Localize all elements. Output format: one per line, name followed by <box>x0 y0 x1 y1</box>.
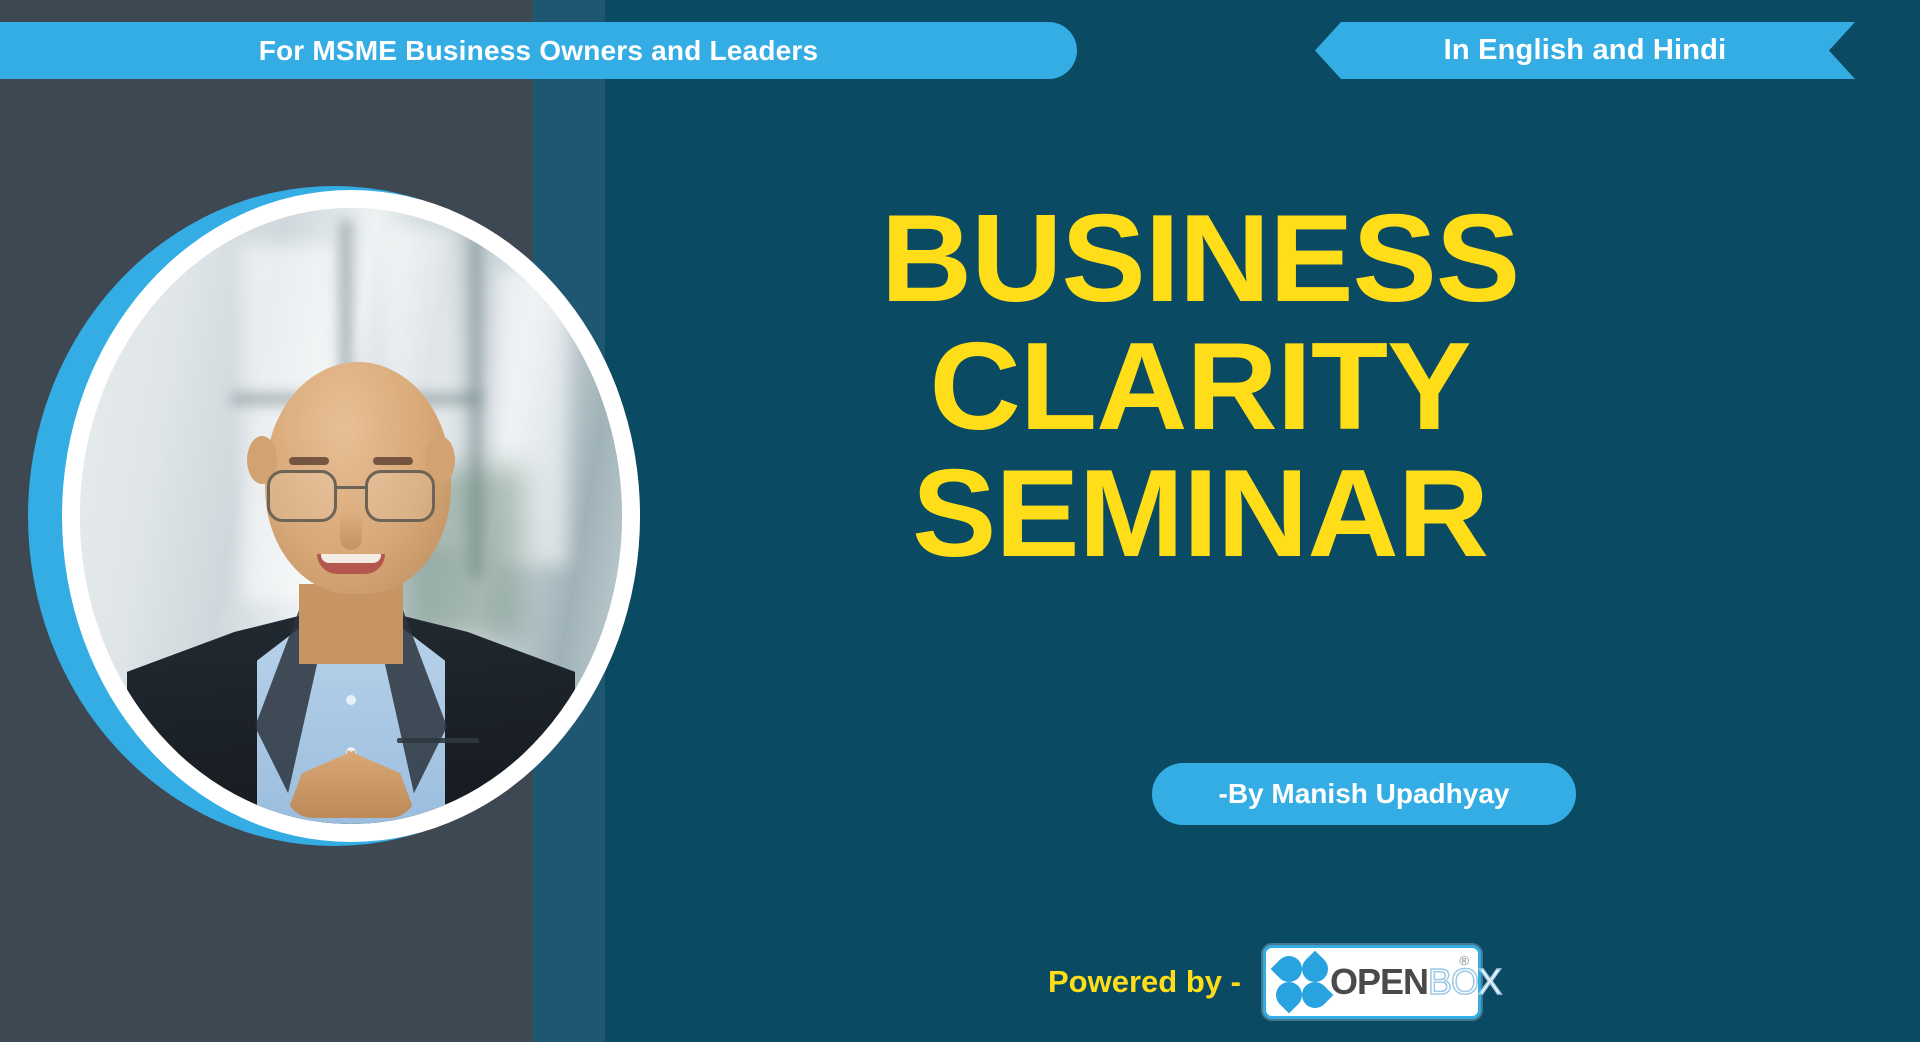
openbox-logo: OPEN BOX ® <box>1263 945 1481 1019</box>
event-title: BUSINESS CLARITY SEMINAR <box>790 196 1610 579</box>
photo-lens-left <box>267 470 337 522</box>
photo-lens-right <box>365 470 435 522</box>
openbox-word-open: OPEN <box>1330 961 1428 1003</box>
photo-eyebrow-left <box>289 457 329 465</box>
openbox-petal-mark-icon <box>1276 956 1328 1008</box>
audience-tag-label: For MSME Business Owners and Leaders <box>259 35 819 67</box>
photo-neck <box>299 584 403 664</box>
poster-canvas: For MSME Business Owners and Leaders In … <box>0 0 1920 1042</box>
photo-nose <box>340 510 362 550</box>
powered-by-label: Powered by - <box>1048 964 1241 1000</box>
event-title-line-1: BUSINESS <box>782 196 1618 324</box>
sponsor-block: Powered by - OPEN BOX ® <box>1048 945 1481 1019</box>
photo-shirt-button <box>346 695 356 705</box>
openbox-wordmark: OPEN BOX <box>1330 961 1501 1003</box>
photo-hand-right <box>347 750 417 818</box>
registered-trademark-icon: ® <box>1459 953 1469 968</box>
photo-hands <box>289 750 413 820</box>
photo-breast-pocket <box>397 738 479 743</box>
photo-eyebrow-right <box>373 457 413 465</box>
speaker-photo <box>80 208 622 824</box>
language-tag-label: In English and Hindi <box>1444 34 1727 67</box>
audience-tag: For MSME Business Owners and Leaders <box>0 22 1077 79</box>
photo-mouth <box>317 554 385 574</box>
photo-teeth <box>321 554 381 563</box>
event-title-line-3: SEMINAR <box>782 451 1618 579</box>
speaker-byline-pill: -By Manish Upadhyay <box>1152 763 1576 825</box>
speaker-byline-label: -By Manish Upadhyay <box>1219 778 1510 810</box>
language-tag: In English and Hindi <box>1315 22 1855 79</box>
event-title-line-2: CLARITY <box>782 324 1618 452</box>
speaker-portrait <box>28 186 640 846</box>
photo-hand-left <box>285 750 355 818</box>
photo-glasses-bridge <box>337 486 365 489</box>
